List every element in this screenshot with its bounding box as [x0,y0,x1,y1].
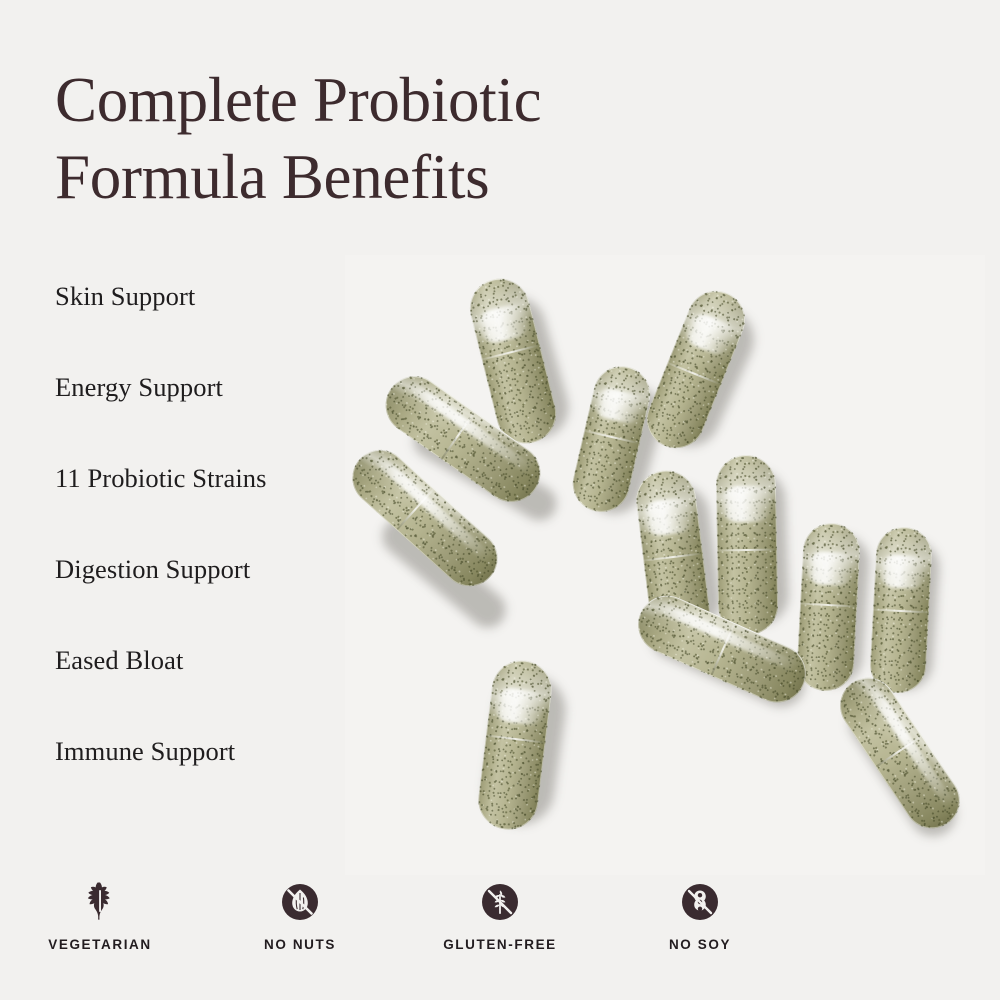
capsule-seam [584,430,640,445]
capsule-seam [481,344,540,360]
benefit-item-immune-support: Immune Support [55,738,355,829]
no-nuts-icon [280,882,320,922]
badge-no-soy-label: NO SOY [669,937,731,952]
benefit-item-eased-bloat: Eased Bloat [55,647,355,738]
capsule-seam [876,735,922,767]
page-title: Complete Probiotic Formula Benefits [55,62,755,216]
capsule-seam [441,412,475,459]
leaf-icon [80,882,120,922]
benefit-item-energy-support: Energy Support [55,374,355,465]
no-gluten-wheat-icon [480,882,520,922]
page-title-line-2: Formula Benefits [55,139,755,216]
capsule-product-photo [345,255,985,875]
product-benefits-graphic: Complete Probiotic Formula Benefits Skin… [0,0,1000,1000]
badge-vegetarian: VEGETARIAN [0,882,200,952]
badge-no-soy: NO SOY [600,882,800,952]
capsule-seam [873,609,929,614]
badge-no-nuts-label: NO NUTS [264,937,336,952]
badge-vegetarian-label: VEGETARIAN [48,937,152,952]
badge-gluten-free-label: GLUTEN-FREE [443,937,557,952]
capsule-seam [717,548,777,551]
capsule-seam [643,552,703,561]
capsule-seam [800,602,857,607]
capsule [715,454,778,635]
benefit-item-digestion-support: Digestion Support [55,556,355,647]
capsule-seam [667,362,722,386]
capsule-pile [345,255,985,875]
capsule-seam [711,624,735,676]
badge-no-nuts: NO NUTS [200,882,400,952]
benefits-list: Skin Support Energy Support 11 Probiotic… [55,283,355,829]
capsule [869,526,934,695]
certification-badge-row: VEGETARIAN NO NUTS [0,882,800,952]
capsule-seam [486,735,546,744]
benefit-item-skin-support: Skin Support [55,283,355,374]
capsule-seam [397,489,434,530]
page-title-line-1: Complete Probiotic [55,62,755,139]
badge-gluten-free: GLUTEN-FREE [400,882,600,952]
benefit-item-probiotic-strains: 11 Probiotic Strains [55,465,355,556]
no-soy-bean-icon [680,882,720,922]
